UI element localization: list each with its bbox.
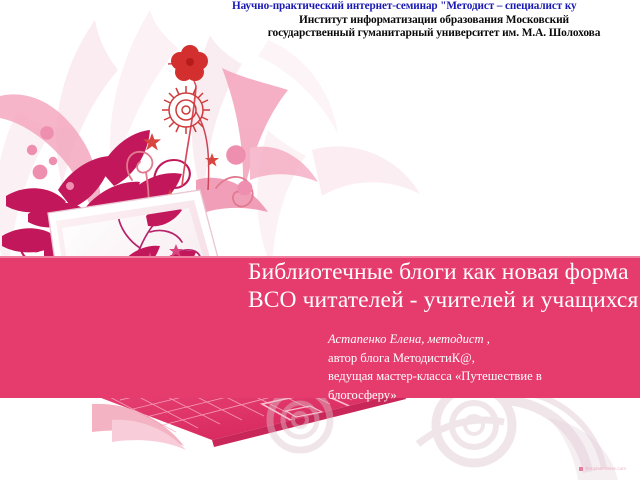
presentation-slide: Научно-практический интернет-семинар "Ме… <box>0 0 640 480</box>
author-blog-line: автор блога МетодистиК@, <box>328 349 628 368</box>
header-institute-line-1: Институт информатизации образования Моск… <box>228 14 640 27</box>
author-name-line: Астапенко Елена, методист , <box>328 330 628 349</box>
floral-ornament-illustration <box>0 0 640 480</box>
copyright-mark-icon <box>579 467 583 471</box>
watermark-label: TemplatesWise.com <box>585 466 626 471</box>
slide-header: Научно-практический интернет-семинар "Ме… <box>228 0 640 40</box>
header-seminar-line: Научно-практический интернет-семинар "Ме… <box>232 0 640 13</box>
template-watermark: TemplatesWise.com <box>579 466 626 471</box>
header-institute-line-2: государственный гуманитарный университет… <box>228 27 640 40</box>
page-title: Библиотечные блоги как новая форма ВСО ч… <box>248 258 640 314</box>
author-role-line-1: ведущая мастер-класса «Путешествие в <box>328 367 628 386</box>
author-role-line-2: блогосферу» <box>328 386 628 405</box>
author-block: Астапенко Елена, методист , автор блога … <box>328 330 628 405</box>
